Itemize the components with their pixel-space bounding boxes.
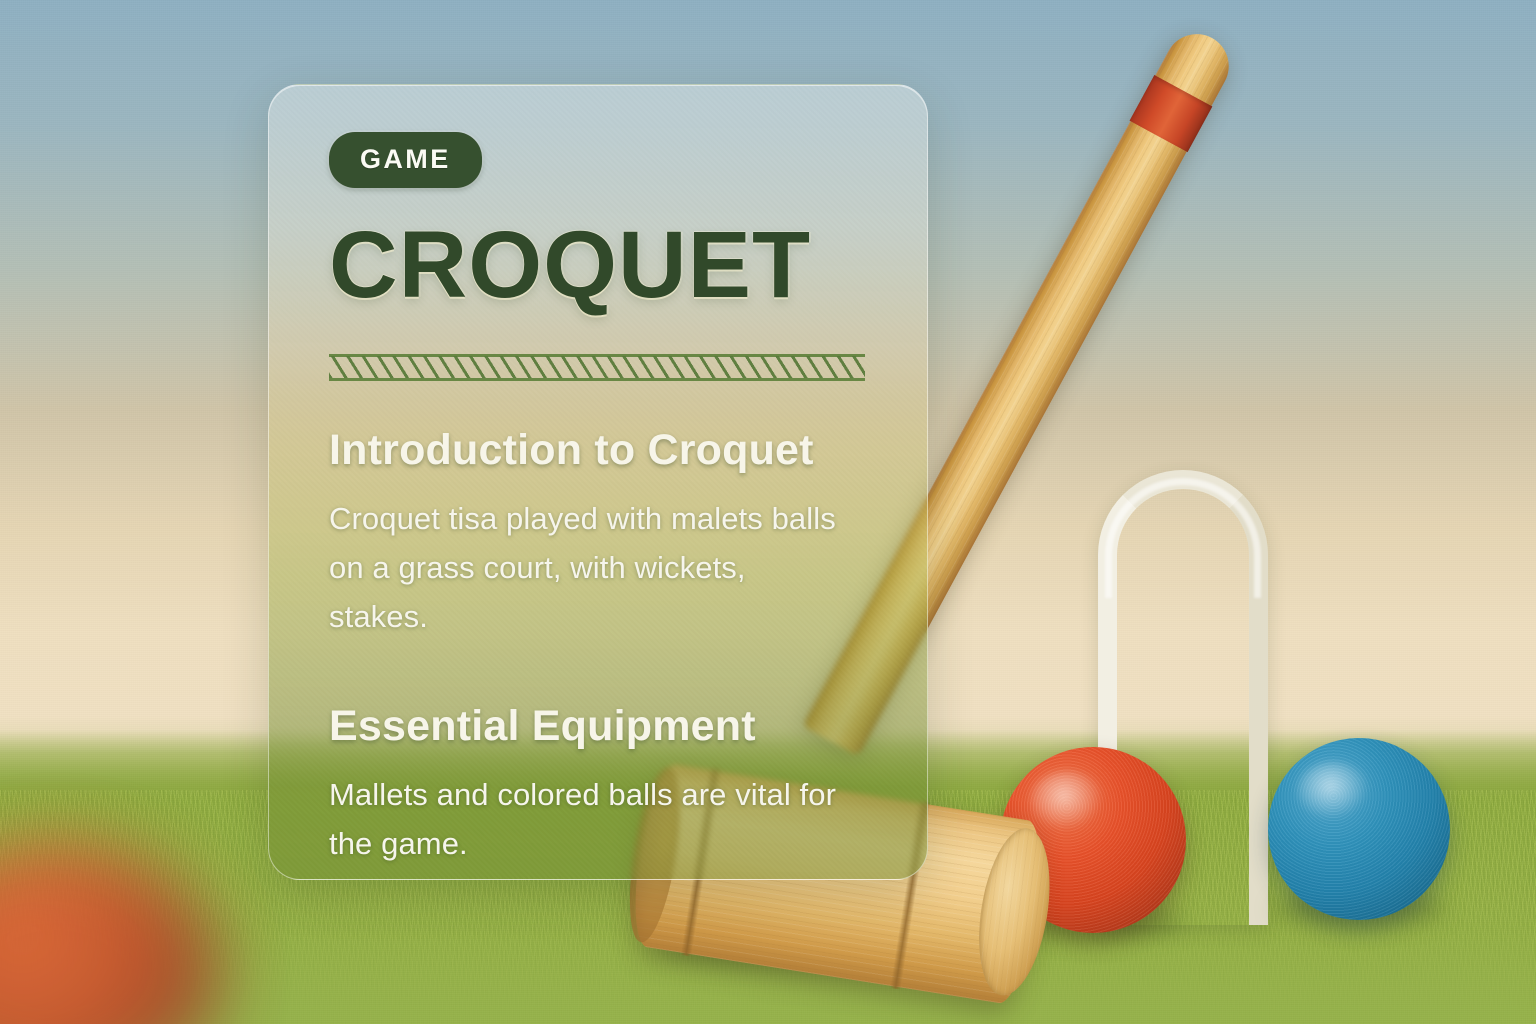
card-content: GAME CROQUET Introduction to Croquet Cro… (269, 85, 927, 879)
grass-foreground-blur (0, 930, 1536, 1024)
croquet-infographic-scene: GAME CROQUET Introduction to Croquet Cro… (0, 0, 1536, 1024)
section-heading: Introduction to Croquet (329, 426, 867, 475)
divider-hatch-pattern (329, 356, 865, 378)
info-card: GAME CROQUET Introduction to Croquet Cro… (268, 84, 928, 880)
page-title: CROQUET (329, 219, 867, 312)
hatched-divider (329, 352, 865, 382)
section-introduction: Introduction to Croquet Croquet tisa pla… (329, 426, 867, 642)
game-badge: GAME (329, 132, 482, 188)
wicket-gloss-highlight (1105, 478, 1261, 598)
section-equipment: Essential Equipment Mallets and colored … (329, 702, 867, 869)
section-heading: Essential Equipment (329, 702, 867, 751)
divider-rule-bottom (329, 378, 865, 381)
section-body: Mallets and colored balls are vital for … (329, 771, 849, 869)
section-body: Croquet tisa played with malets balls on… (329, 495, 849, 642)
mallet-grip-band (1130, 75, 1213, 152)
